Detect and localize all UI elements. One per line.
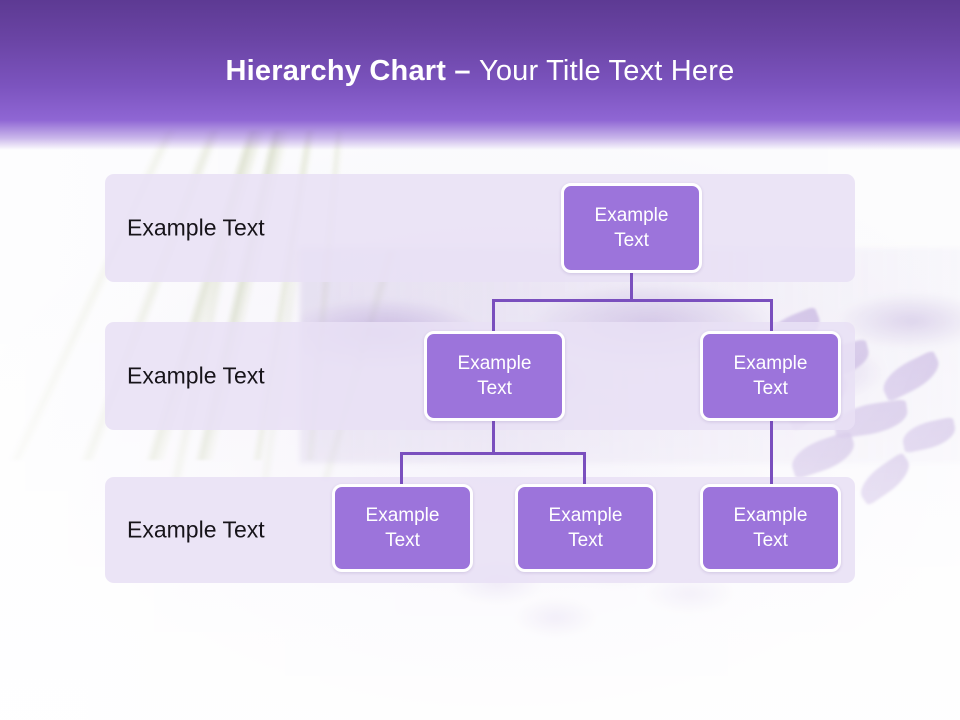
- page-title: Hierarchy Chart – Your Title Text Here: [0, 52, 960, 90]
- connector-level3-crossbar: [400, 452, 586, 455]
- level-label-1: Example Text: [127, 215, 265, 242]
- title-banner: Hierarchy Chart – Your Title Text Here: [0, 0, 960, 150]
- connector-to-node-2-1: [492, 299, 495, 333]
- hierarchy-node-2-2[interactable]: ExampleText: [700, 331, 841, 421]
- connector-node-2-2-to-3-3: [770, 421, 773, 484]
- level-label-3: Example Text: [127, 517, 265, 544]
- connector-node-2-1-stem: [492, 421, 495, 455]
- level-band-1: Example Text: [105, 174, 855, 282]
- level-label-2: Example Text: [127, 363, 265, 390]
- node-label: ExampleText: [728, 351, 814, 401]
- hierarchy-node-root[interactable]: ExampleText: [561, 183, 702, 273]
- node-label: ExampleText: [360, 503, 446, 553]
- page-title-strong: Hierarchy Chart –: [226, 55, 479, 87]
- connector-to-node-3-1: [400, 452, 403, 484]
- node-label: ExampleText: [728, 503, 814, 553]
- hierarchy-node-3-3[interactable]: ExampleText: [700, 484, 841, 572]
- node-label: ExampleText: [589, 203, 675, 253]
- page-title-light: Your Title Text Here: [479, 55, 734, 87]
- hierarchy-node-3-2[interactable]: ExampleText: [515, 484, 656, 572]
- hierarchy-node-3-1[interactable]: ExampleText: [332, 484, 473, 572]
- slide-canvas: Hierarchy Chart – Your Title Text Here E…: [0, 0, 960, 720]
- node-label: ExampleText: [452, 351, 538, 401]
- node-label: ExampleText: [543, 503, 629, 553]
- connector-to-node-2-2: [770, 299, 773, 333]
- connector-root-stem: [630, 272, 633, 302]
- connector-to-node-3-2: [583, 452, 586, 484]
- connector-level2-crossbar: [492, 299, 773, 302]
- hierarchy-node-2-1[interactable]: ExampleText: [424, 331, 565, 421]
